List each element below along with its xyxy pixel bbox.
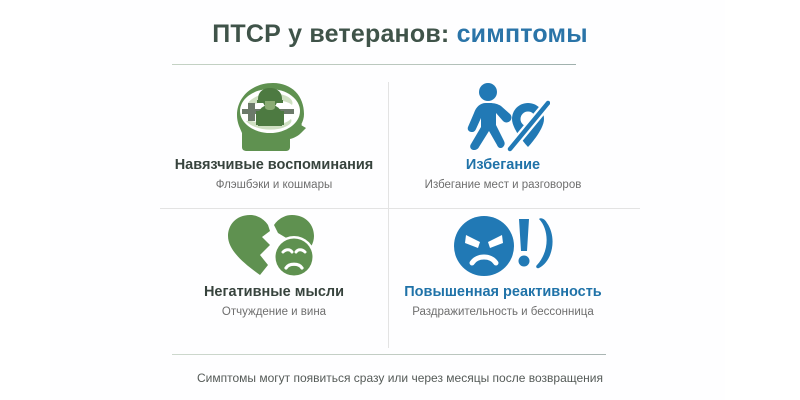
symptom-title: Негативные мысли: [160, 283, 388, 301]
symptom-card-hyperarousal[interactable]: Повышенная реактивность Раздражительност…: [389, 209, 617, 339]
symptom-subtitle: Избегание мест и разговоров: [389, 177, 617, 193]
infographic-canvas: ПТСР у ветеранов: симптомы: [0, 0, 800, 400]
icon-container: [389, 78, 617, 156]
symptom-title: Избегание: [389, 156, 617, 174]
angry-face-exclamation-moon-icon: [453, 213, 553, 279]
icon-container: [160, 209, 388, 283]
symptom-card-negative-thoughts[interactable]: Негативные мысли Отчуждение и вина: [160, 209, 388, 339]
symptoms-grid: Навязчивые воспоминания Флэшбэки и кошма…: [160, 78, 640, 350]
head-soldier-icon: [228, 81, 320, 153]
title-divider: [172, 64, 576, 65]
symptom-card-intrusive-memories[interactable]: Навязчивые воспоминания Флэшбэки и кошма…: [160, 78, 388, 208]
footer-note: Симптомы могут появиться сразу или через…: [0, 370, 800, 386]
symptom-subtitle: Отчуждение и вина: [160, 304, 388, 320]
page-title: ПТСР у ветеранов: симптомы: [0, 18, 800, 50]
broken-heart-sad-face-icon: [224, 213, 324, 279]
title-main: ПТСР у ветеранов:: [212, 20, 449, 48]
title-text: ПТСР у ветеранов: симптомы: [0, 18, 800, 50]
symptom-title: Повышенная реактивность: [389, 283, 617, 301]
symptom-title: Навязчивые воспоминания: [160, 156, 388, 174]
symptom-subtitle: Флэшбэки и кошмары: [160, 177, 388, 193]
icon-container: [160, 78, 388, 156]
symptom-subtitle: Раздражительность и бессонница: [389, 304, 617, 320]
walking-person-no-location-icon: [456, 81, 550, 153]
footer-divider: [172, 354, 606, 355]
symptom-card-avoidance[interactable]: Избегание Избегание мест и разговоров: [389, 78, 617, 208]
title-accent: симптомы: [457, 20, 588, 48]
icon-container: [389, 209, 617, 283]
